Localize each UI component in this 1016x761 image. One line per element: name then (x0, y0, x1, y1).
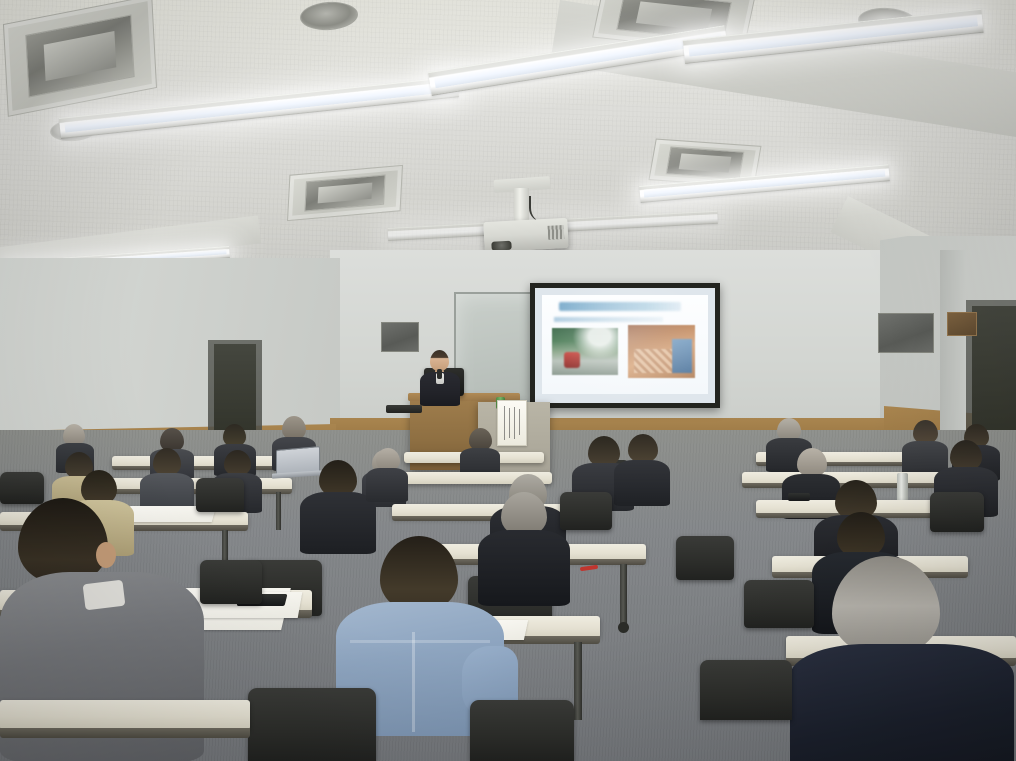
shirt-collar (83, 580, 126, 611)
head (380, 536, 458, 612)
head (628, 434, 658, 463)
desk-leg (620, 564, 627, 626)
speaker-panel-left (381, 322, 419, 352)
presenter (418, 350, 464, 402)
attendee-row-a-5 (460, 428, 502, 474)
torso (366, 468, 408, 502)
torso (614, 460, 670, 506)
desk-leg (276, 492, 281, 530)
chair-near-center[interactable] (470, 700, 574, 761)
chair[interactable] (930, 492, 984, 532)
head (153, 448, 181, 476)
desk-caster (618, 622, 629, 633)
chair-near-left[interactable] (248, 688, 376, 761)
screen-glow (535, 288, 715, 403)
head (797, 448, 827, 477)
smartphone[interactable] (788, 493, 810, 501)
attendee-row-c-3 (366, 448, 410, 500)
attendee-row-b-6 (614, 434, 672, 502)
lecture-hall-photograph: A presenter in a dark suit stands at a w… (0, 0, 1016, 761)
projection-screen[interactable] (535, 288, 715, 403)
projector-mount-pole (514, 188, 529, 222)
wall-plaque (947, 312, 977, 336)
attendee-navy-sweater (790, 556, 1016, 761)
presenter-head (430, 350, 449, 371)
speaker-panel-right (878, 313, 934, 353)
denim-yoke (350, 640, 490, 643)
desk-foreground-left (0, 700, 250, 730)
ear (96, 542, 116, 568)
podium-control-console[interactable] (386, 405, 422, 413)
desk-leg (574, 642, 582, 720)
chair-mid-left[interactable] (200, 560, 262, 604)
torso (790, 644, 1014, 761)
head (832, 556, 940, 656)
projection-screen-frame (530, 283, 720, 408)
desk-edge (0, 728, 250, 738)
chair[interactable] (676, 536, 734, 580)
presenter-microphone (437, 369, 442, 379)
denim-seam (412, 632, 415, 732)
ceiling-projector (483, 218, 568, 252)
chair-near-right[interactable] (700, 660, 792, 720)
chair-mid-right[interactable] (744, 580, 814, 628)
